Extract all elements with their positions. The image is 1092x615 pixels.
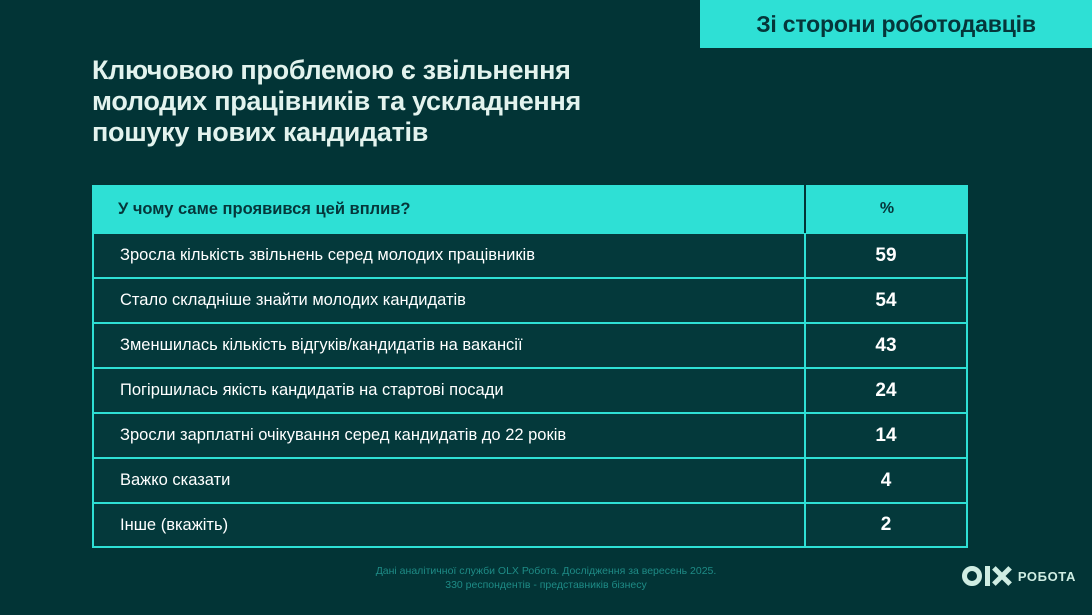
page-title-line-3: пошуку нових кандидатів — [92, 117, 692, 148]
row-value: 14 — [806, 413, 968, 458]
olx-robota-logo: РОБОТА — [962, 566, 1076, 586]
row-label: Інше (вкажіть) — [92, 503, 806, 548]
row-label: Зросли зарплатні очікування серед кандид… — [92, 413, 806, 458]
table-row: Зменшилась кількість відгуків/кандидатів… — [92, 323, 968, 368]
row-label: Погіршилась якість кандидатів на стартов… — [92, 368, 806, 413]
employers-side-badge: Зі сторони роботодавців — [700, 0, 1092, 48]
olx-x-glyph — [993, 566, 1011, 586]
olx-bar-glyph — [985, 566, 990, 586]
logo-wordmark: РОБОТА — [1018, 569, 1076, 584]
olx-logo-icon — [962, 566, 1011, 586]
row-label: Важко сказати — [92, 458, 806, 503]
column-header-question: У чому саме проявився цей вплив? — [92, 185, 806, 233]
row-value: 43 — [806, 323, 968, 368]
page-title: Ключовою проблемою є звільнення молодих … — [92, 55, 692, 148]
footer-line-2: 330 респондентів - представників бізнесу — [0, 578, 1092, 592]
results-table: У чому саме проявився цей вплив? % Зросл… — [92, 185, 968, 548]
row-value: 2 — [806, 503, 968, 548]
row-value: 59 — [806, 233, 968, 278]
table-row: Інше (вкажіть) 2 — [92, 503, 968, 548]
olx-o-glyph — [962, 566, 982, 586]
table-row: Важко сказати 4 — [92, 458, 968, 503]
table-row: Погіршилась якість кандидатів на стартов… — [92, 368, 968, 413]
footer-line-1: Дані аналітичної служби OLX Робота. Досл… — [0, 564, 1092, 578]
row-label: Стало складніше знайти молодих кандидаті… — [92, 278, 806, 323]
row-value: 24 — [806, 368, 968, 413]
page-title-line-1: Ключовою проблемою є звільнення — [92, 55, 692, 86]
badge-label: Зі сторони роботодавців — [756, 11, 1036, 38]
row-value: 54 — [806, 278, 968, 323]
row-value: 4 — [806, 458, 968, 503]
column-header-percent: % — [806, 185, 968, 233]
footer-source-note: Дані аналітичної служби OLX Робота. Досл… — [0, 564, 1092, 592]
table-row: Зросла кількість звільнень серед молодих… — [92, 233, 968, 278]
page-title-line-2: молодих працівників та ускладнення — [92, 86, 692, 117]
table-row: Зросли зарплатні очікування серед кандид… — [92, 413, 968, 458]
row-label: Зменшилась кількість відгуків/кандидатів… — [92, 323, 806, 368]
table-header-row: У чому саме проявився цей вплив? % — [92, 185, 968, 233]
row-label: Зросла кількість звільнень серед молодих… — [92, 233, 806, 278]
table-row: Стало складніше знайти молодих кандидаті… — [92, 278, 968, 323]
